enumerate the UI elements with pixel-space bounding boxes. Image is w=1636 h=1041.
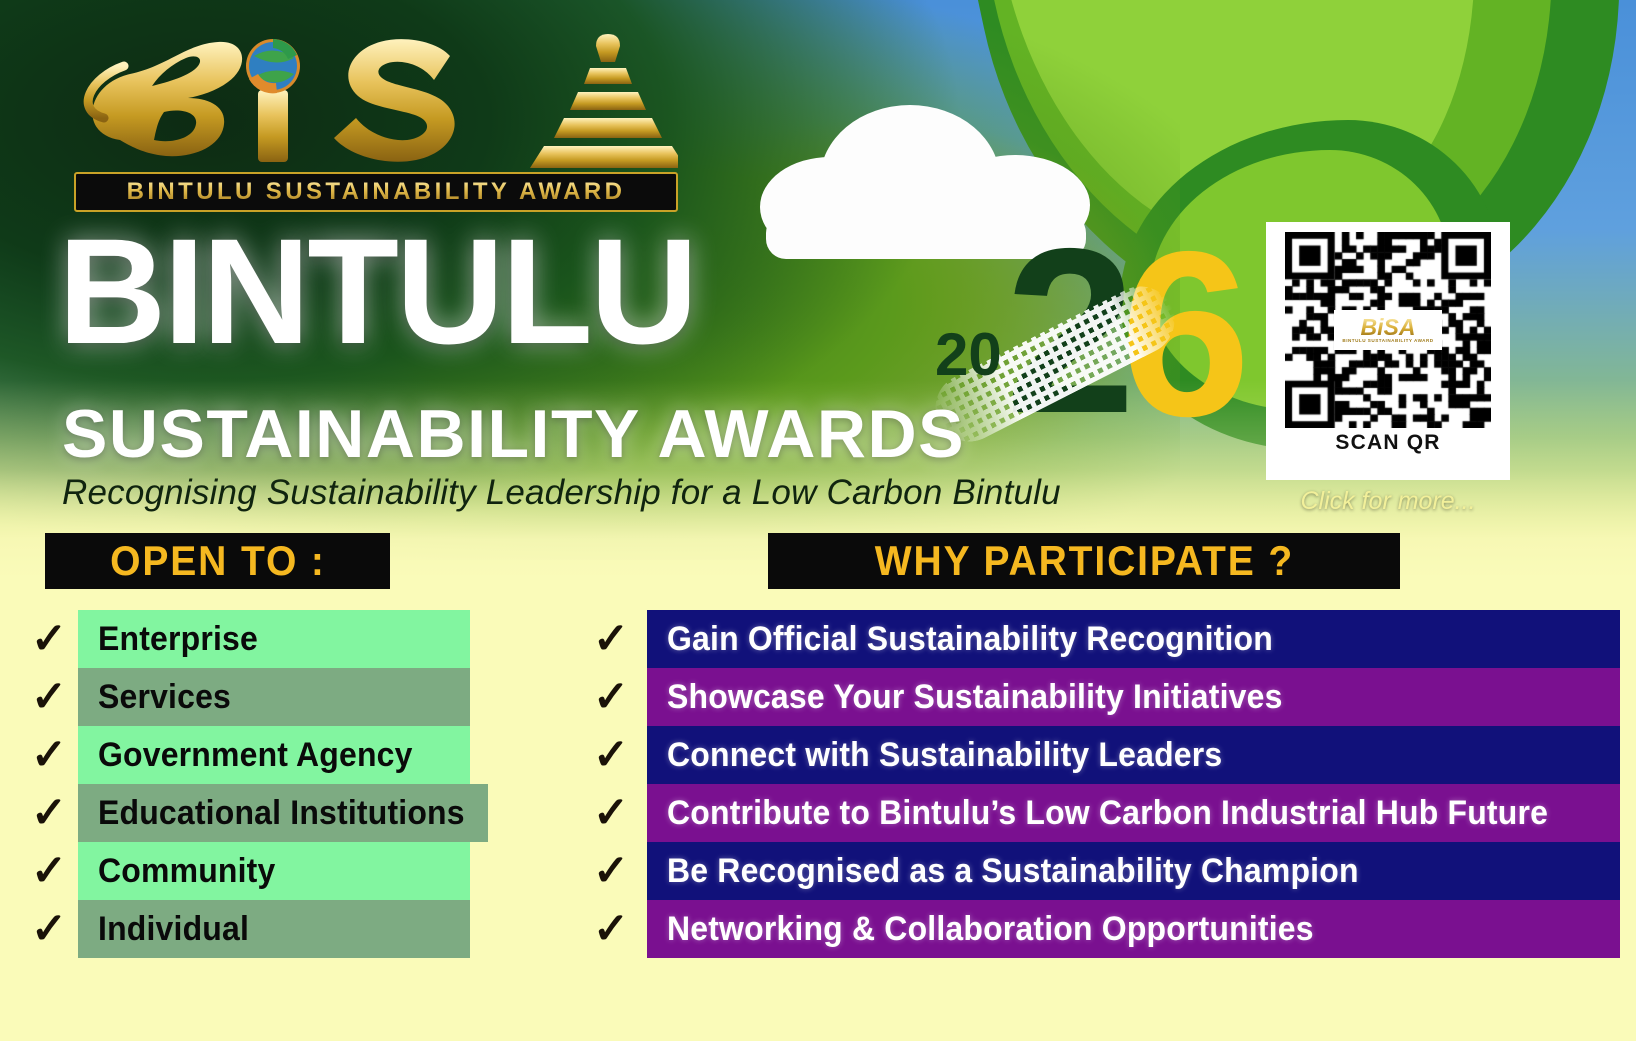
year-graphic: 2 6 20: [915, 235, 1215, 495]
open-to-item-label: Government Agency: [98, 736, 413, 775]
check-icon: ✓: [575, 734, 647, 777]
open-to-item: Services: [78, 668, 470, 726]
why-participate-list: ✓Gain Official Sustainability Recognitio…: [575, 610, 1620, 958]
qr-embedded-logo-text: BiSA: [1361, 316, 1416, 339]
why-participate-row: ✓Connect with Sustainability Leaders: [575, 726, 1620, 784]
open-to-item-label: Community: [98, 852, 275, 891]
qr-embedded-logo-subtext: BINTULU SUSTAINABILITY AWARD: [1342, 339, 1433, 344]
page-tagline: Recognising Sustainability Leadership fo…: [62, 473, 1061, 513]
check-icon: ✓: [575, 676, 647, 719]
open-to-item: Individual: [78, 900, 470, 958]
why-participate-item: Showcase Your Sustainability Initiatives: [647, 668, 1620, 726]
qr-click-for-more-link[interactable]: Click for more...: [1266, 487, 1510, 516]
why-participate-item-label: Networking & Collaboration Opportunities: [667, 910, 1314, 949]
check-icon: ✓: [20, 792, 78, 835]
open-to-heading-text: OPEN TO :: [110, 537, 326, 585]
why-participate-item-label: Showcase Your Sustainability Initiatives: [667, 678, 1283, 717]
open-to-heading: OPEN TO :: [45, 533, 390, 589]
open-to-item: Government Agency: [78, 726, 470, 784]
why-participate-row: ✓Networking & Collaboration Opportunitie…: [575, 900, 1620, 958]
why-participate-row: ✓Gain Official Sustainability Recognitio…: [575, 610, 1620, 668]
year-prefix-label: 20: [935, 320, 1002, 389]
open-to-row: ✓Individual: [20, 900, 470, 958]
check-icon: ✓: [20, 618, 78, 661]
why-participate-heading-text: WHY PARTICIPATE ?: [874, 537, 1293, 585]
qr-code-card[interactable]: BiSA BINTULU SUSTAINABILITY AWARD SCAN Q…: [1266, 222, 1510, 480]
open-to-item-label: Educational Institutions: [98, 794, 465, 833]
open-to-item: Educational Institutions: [78, 784, 488, 842]
open-to-item-label: Individual: [98, 910, 249, 949]
check-icon: ✓: [575, 850, 647, 893]
why-participate-item: Networking & Collaboration Opportunities: [647, 900, 1620, 958]
check-icon: ✓: [575, 792, 647, 835]
open-to-row: ✓Enterprise: [20, 610, 470, 668]
open-to-row: ✓Educational Institutions: [20, 784, 470, 842]
qr-embedded-logo: BiSA BINTULU SUSTAINABILITY AWARD: [1334, 310, 1442, 350]
page-subtitle: SUSTAINABILITY AWARDS: [62, 400, 965, 468]
open-to-item-label: Services: [98, 678, 231, 717]
bisa-logo-wordmark-text: BINTULU SUSTAINABILITY AWARD: [127, 178, 626, 206]
open-to-item: Community: [78, 842, 470, 900]
why-participate-item-label: Gain Official Sustainability Recognition: [667, 620, 1273, 659]
open-to-list: ✓Enterprise✓Services✓Government Agency✓E…: [20, 610, 470, 958]
why-participate-item-label: Connect with Sustainability Leaders: [667, 736, 1222, 775]
check-icon: ✓: [575, 618, 647, 661]
qr-code-image[interactable]: BiSA BINTULU SUSTAINABILITY AWARD: [1285, 232, 1491, 428]
why-participate-item: Gain Official Sustainability Recognition: [647, 610, 1620, 668]
qr-caption: SCAN QR: [1335, 431, 1440, 455]
why-participate-item-label: Be Recognised as a Sustainability Champi…: [667, 852, 1359, 891]
check-icon: ✓: [20, 676, 78, 719]
why-participate-item: Connect with Sustainability Leaders: [647, 726, 1620, 784]
why-participate-item: Contribute to Bintulu’s Low Carbon Indus…: [647, 784, 1620, 842]
open-to-row: ✓Community: [20, 842, 470, 900]
bisa-logo[interactable]: BINTULU SUSTAINABILITY AWARD: [68, 22, 678, 212]
check-icon: ✓: [575, 908, 647, 951]
why-participate-row: ✓Contribute to Bintulu’s Low Carbon Indu…: [575, 784, 1620, 842]
why-participate-item-label: Contribute to Bintulu’s Low Carbon Indus…: [667, 794, 1548, 833]
why-participate-row: ✓Be Recognised as a Sustainability Champ…: [575, 842, 1620, 900]
check-icon: ✓: [20, 734, 78, 777]
check-icon: ✓: [20, 908, 78, 951]
open-to-row: ✓Government Agency: [20, 726, 470, 784]
bisa-logo-mark: [68, 22, 678, 172]
bisa-logo-wordmark: BINTULU SUSTAINABILITY AWARD: [74, 172, 678, 212]
page-title: BINTULU: [58, 222, 695, 360]
why-participate-item: Be Recognised as a Sustainability Champi…: [647, 842, 1620, 900]
open-to-item: Enterprise: [78, 610, 470, 668]
open-to-item-label: Enterprise: [98, 620, 258, 659]
open-to-row: ✓Services: [20, 668, 470, 726]
why-participate-row: ✓Showcase Your Sustainability Initiative…: [575, 668, 1620, 726]
check-icon: ✓: [20, 850, 78, 893]
poster-root: BINTULU SUSTAINABILITY AWARD BINTULU SUS…: [0, 0, 1636, 1041]
why-participate-heading: WHY PARTICIPATE ?: [768, 533, 1400, 589]
